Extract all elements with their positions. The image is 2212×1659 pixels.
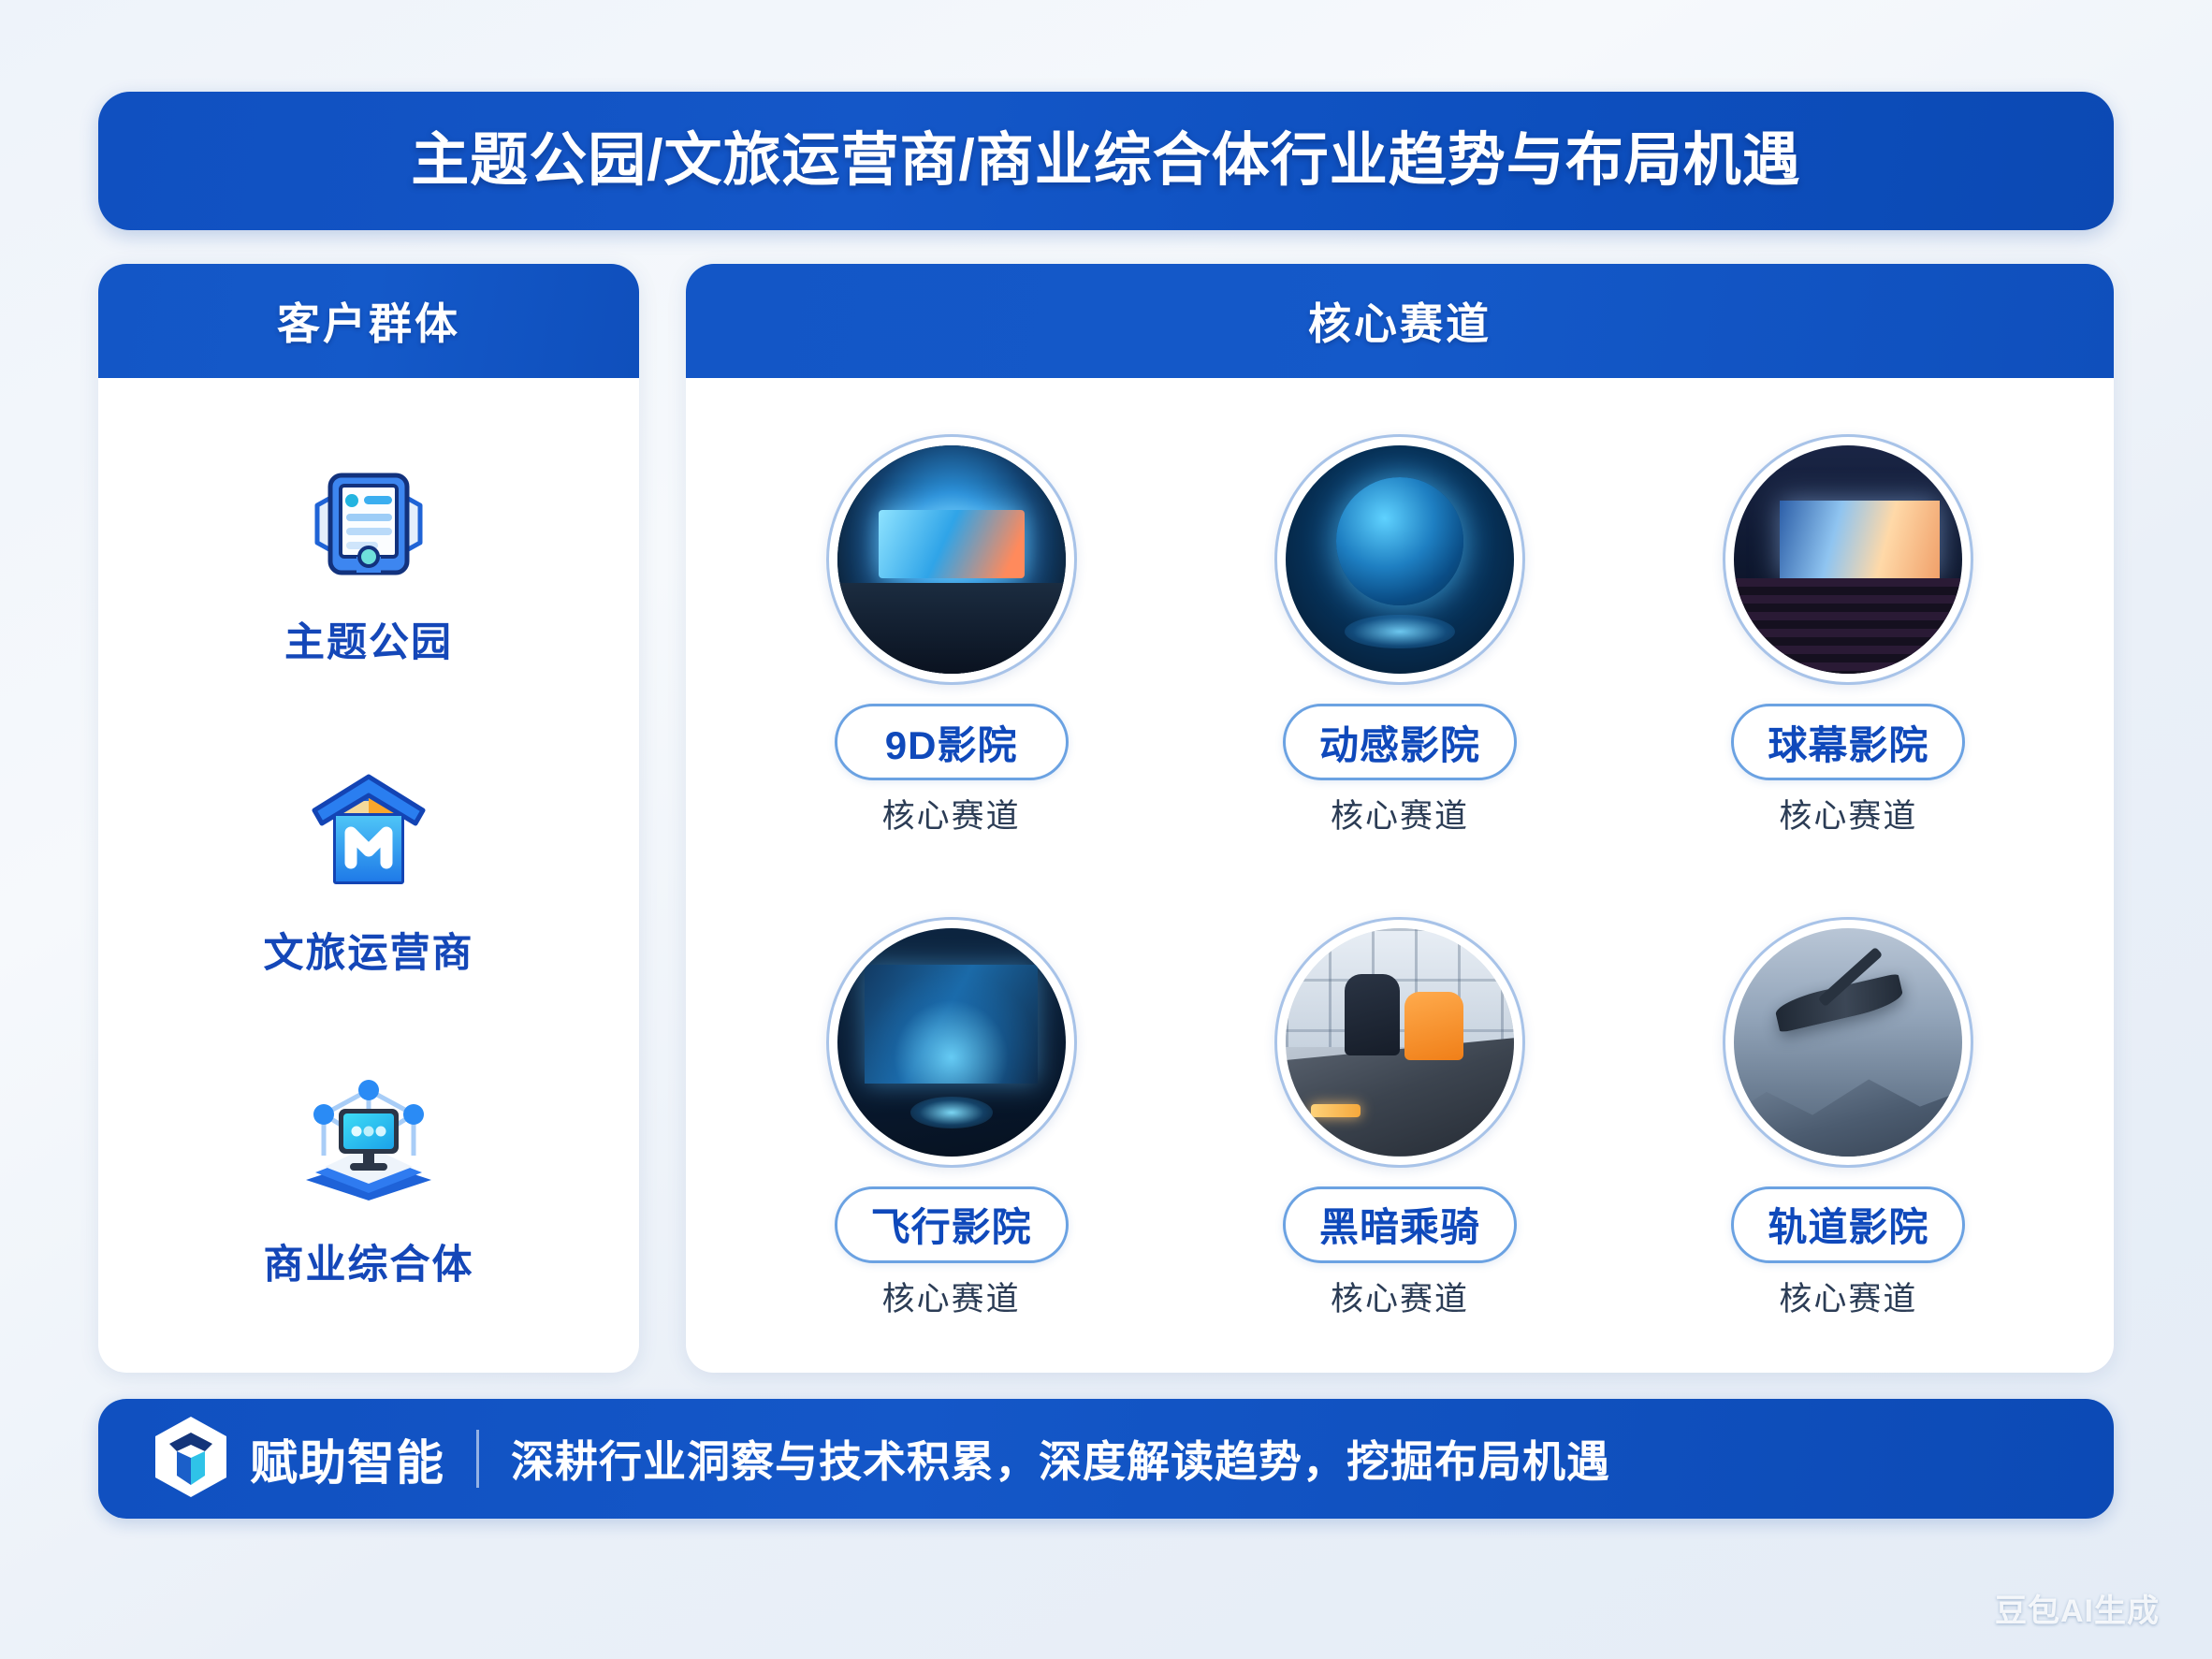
brand-name: 赋助智能: [250, 1424, 444, 1493]
flying-craft-mountain-photo: [1734, 928, 1962, 1157]
vr-headset-tablet-icon: [289, 447, 448, 597]
track-card[interactable]: 飞行影院 核心赛道: [826, 917, 1077, 1320]
track-title: 动感影院: [1319, 714, 1480, 771]
track-image-frame: [1274, 434, 1525, 685]
network-monitor-icon: [289, 1070, 448, 1219]
page-title: 主题公园/文旅运营商/商业综合体行业趋势与布局机遇: [411, 132, 1800, 190]
hexagon-m-logo-icon: [151, 1414, 231, 1505]
track-card[interactable]: 黑暗乘骑 核心赛道: [1274, 917, 1525, 1320]
sidebar-item-commercial-complex[interactable]: 商业综合体: [264, 1070, 474, 1290]
sidebar-item-theme-park[interactable]: 主题公园: [284, 447, 453, 668]
track-image-frame: [1723, 917, 1973, 1168]
track-title: 飞行影院: [871, 1196, 1032, 1253]
track-title-pill[interactable]: 黑暗乘骑: [1283, 1186, 1517, 1263]
track-subtitle: 核心赛道: [1331, 1273, 1469, 1320]
sidebar-item-label: 文旅运营商: [264, 921, 474, 979]
track-card[interactable]: 轨道影院 核心赛道: [1723, 917, 1973, 1320]
dome-theater-audience-photo: [1734, 445, 1962, 674]
core-tracks-grid: 9D影院 核心赛道 动感影院 核心赛道: [686, 378, 2114, 1373]
core-tracks-heading: 核心赛道: [1308, 290, 1492, 352]
brand-block: 赋助智能: [151, 1414, 444, 1505]
track-title: 轨道影院: [1768, 1196, 1928, 1253]
track-title: 黑暗乘骑: [1319, 1196, 1480, 1253]
footer-divider: [476, 1430, 479, 1488]
track-title: 9D影院: [885, 714, 1018, 771]
track-card[interactable]: 动感影院 核心赛道: [1274, 434, 1525, 837]
cinema-stage-screen-photo: [837, 445, 1066, 674]
track-title: 球幕影院: [1768, 714, 1928, 771]
track-card[interactable]: 球幕影院 核心赛道: [1723, 434, 1973, 837]
customer-segments-header: 客户群体: [98, 264, 639, 378]
main-content: 客户群体: [98, 264, 2114, 1373]
sidebar-item-label: 主题公园: [284, 610, 453, 668]
ride-vehicle-riders-photo: [1286, 928, 1514, 1157]
track-title-pill[interactable]: 飞行影院: [835, 1186, 1069, 1263]
track-title-pill[interactable]: 球幕影院: [1731, 704, 1965, 780]
sidebar-item-label: 商业综合体: [264, 1232, 474, 1290]
customer-segments-panel: 客户群体: [98, 264, 639, 1373]
ai-watermark: 豆包AI生成: [1995, 1585, 2160, 1631]
track-subtitle: 核心赛道: [1779, 790, 1917, 837]
track-card[interactable]: 9D影院 核心赛道: [826, 434, 1077, 837]
flight-simulator-hall-photo: [837, 928, 1066, 1157]
track-image-frame: [1274, 917, 1525, 1168]
core-tracks-header: 核心赛道: [686, 264, 2114, 378]
slide-title-bar: 主题公园/文旅运营商/商业综合体行业趋势与布局机遇: [98, 92, 2114, 230]
track-image-frame: [1723, 434, 1973, 685]
track-image-frame: [826, 434, 1077, 685]
track-image-frame: [826, 917, 1077, 1168]
core-tracks-panel: 核心赛道 9D影院 核心赛道 动感影院: [686, 264, 2114, 1373]
track-subtitle: 核心赛道: [882, 1273, 1021, 1320]
track-title-pill[interactable]: 轨道影院: [1731, 1186, 1965, 1263]
customer-segments-heading: 客户群体: [277, 290, 460, 352]
track-title-pill[interactable]: 动感影院: [1283, 704, 1517, 780]
slide-root: 主题公园/文旅运营商/商业综合体行业趋势与布局机遇 客户群体: [0, 0, 2212, 1659]
slide-footer: 赋助智能 深耕行业洞察与技术积累，深度解读趋势，挖掘布局机遇: [98, 1399, 2114, 1519]
footer-tagline: 深耕行业洞察与技术积累，深度解读趋势，挖掘布局机遇: [511, 1428, 1610, 1490]
track-subtitle: 核心赛道: [882, 790, 1021, 837]
customer-segments-list: 主题公园: [98, 378, 639, 1373]
house-m-logo-icon: [289, 758, 448, 908]
track-subtitle: 核心赛道: [1331, 790, 1469, 837]
holographic-globe-photo: [1286, 445, 1514, 674]
sidebar-item-cultural-tourism-operator[interactable]: 文旅运营商: [264, 758, 474, 979]
track-title-pill[interactable]: 9D影院: [835, 704, 1069, 780]
track-subtitle: 核心赛道: [1779, 1273, 1917, 1320]
